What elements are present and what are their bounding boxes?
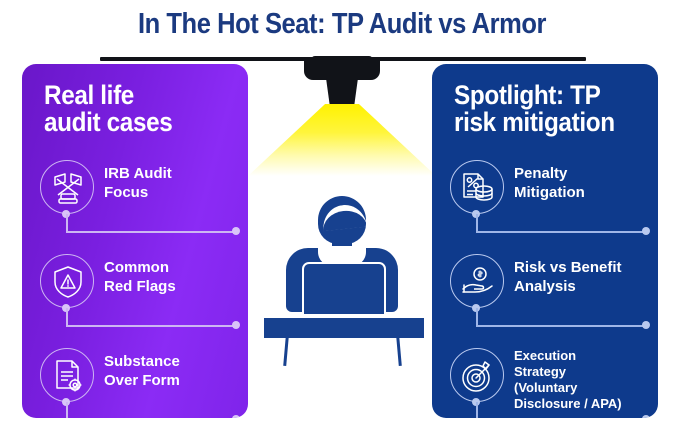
connector-vertical (66, 308, 68, 326)
left-item-irb-audit-focus[interactable]: IRB Audit Focus (40, 160, 240, 218)
left-item-common-red-flags[interactable]: Common Red Flags (40, 254, 240, 312)
connector-vertical (476, 402, 478, 418)
connector-horizontal (66, 325, 236, 327)
left-connector-2 (40, 308, 248, 342)
connector-horizontal (476, 325, 646, 327)
connector-dot-end (232, 415, 240, 418)
lamp-hood (304, 60, 380, 80)
target-dart-icon (450, 348, 504, 402)
connector-dot-end (642, 415, 650, 418)
laptop-icon (302, 262, 386, 316)
left-item-substance-over-form[interactable]: Substance Over Form (40, 348, 240, 406)
connector-dot-end (642, 321, 650, 329)
left-item-label: IRB Audit Focus (104, 164, 244, 202)
lamp-shade (326, 78, 358, 106)
left-panel-heading: Real life audit cases (44, 82, 172, 136)
left-panel: Real life audit cases IRB Audit Focus (22, 64, 248, 418)
hand-coin-icon (450, 254, 504, 308)
right-item-label: Penalty Mitigation (514, 164, 654, 202)
left-item-label: Substance Over Form (104, 352, 244, 390)
shield-warning-icon (40, 254, 94, 308)
connector-dot-end (642, 227, 650, 235)
connector-vertical (476, 308, 478, 326)
right-item-risk-vs-benefit[interactable]: Risk vs Benefit Analysis (450, 254, 650, 312)
connector-vertical (476, 214, 478, 232)
right-item-execution-strategy[interactable]: Execution Strategy (Voluntary Disclosure… (450, 348, 650, 406)
right-panel: Spotlight: TP risk mitigation Penalty Mi… (432, 64, 658, 418)
crossed-flags-icon (40, 160, 94, 214)
left-connector-3 (40, 402, 248, 418)
right-panel-heading: Spotlight: TP risk mitigation (454, 82, 615, 136)
connector-horizontal (66, 231, 236, 233)
right-item-penalty-mitigation[interactable]: Penalty Mitigation (450, 160, 650, 218)
light-beam (248, 104, 436, 176)
document-gear-icon (40, 348, 94, 402)
left-item-label: Common Red Flags (104, 258, 244, 296)
right-item-label: Risk vs Benefit Analysis (514, 258, 654, 296)
percent-document-coins-icon (450, 160, 504, 214)
right-connector-3 (450, 402, 658, 418)
infographic-canvas: In The Hot Seat: TP Audit vs Armor Real … (0, 0, 684, 426)
connector-vertical (66, 402, 68, 418)
connector-dot-end (232, 227, 240, 235)
connector-vertical (66, 214, 68, 232)
connector-horizontal (476, 231, 646, 233)
right-connector-2 (450, 308, 658, 342)
right-connector-1 (450, 214, 658, 248)
connector-dot-end (232, 321, 240, 329)
page-title: In The Hot Seat: TP Audit vs Armor (41, 8, 643, 41)
left-connector-1 (40, 214, 248, 248)
person-at-desk (262, 196, 422, 366)
